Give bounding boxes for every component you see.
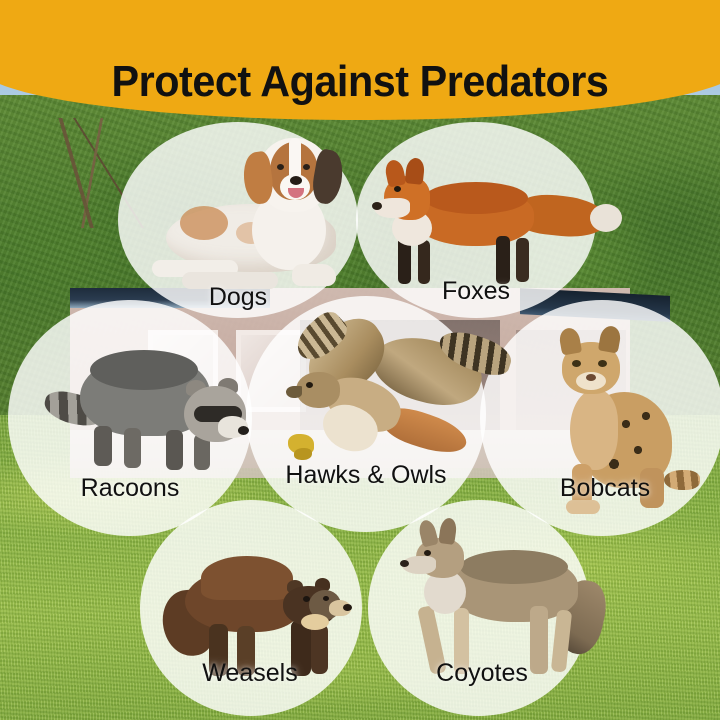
hawk-illustration — [268, 318, 518, 468]
label-hawks-owls: Hawks & Owls — [256, 461, 476, 490]
page-title: Protect Against Predators — [22, 59, 699, 105]
raccoon-illustration — [42, 332, 257, 477]
fox-illustration — [368, 148, 628, 298]
label-racoons: Racoons — [40, 474, 220, 503]
label-bobcats: Bobcats — [515, 474, 695, 503]
label-coyotes: Coyotes — [392, 659, 572, 688]
label-foxes: Foxes — [386, 277, 566, 306]
label-weasels: Weasels — [160, 659, 340, 688]
predator-poster: Dogs Foxes Racoons Hawks & Owls Bobcats … — [0, 0, 720, 720]
label-dogs: Dogs — [148, 283, 328, 312]
dog-illustration — [140, 132, 350, 297]
